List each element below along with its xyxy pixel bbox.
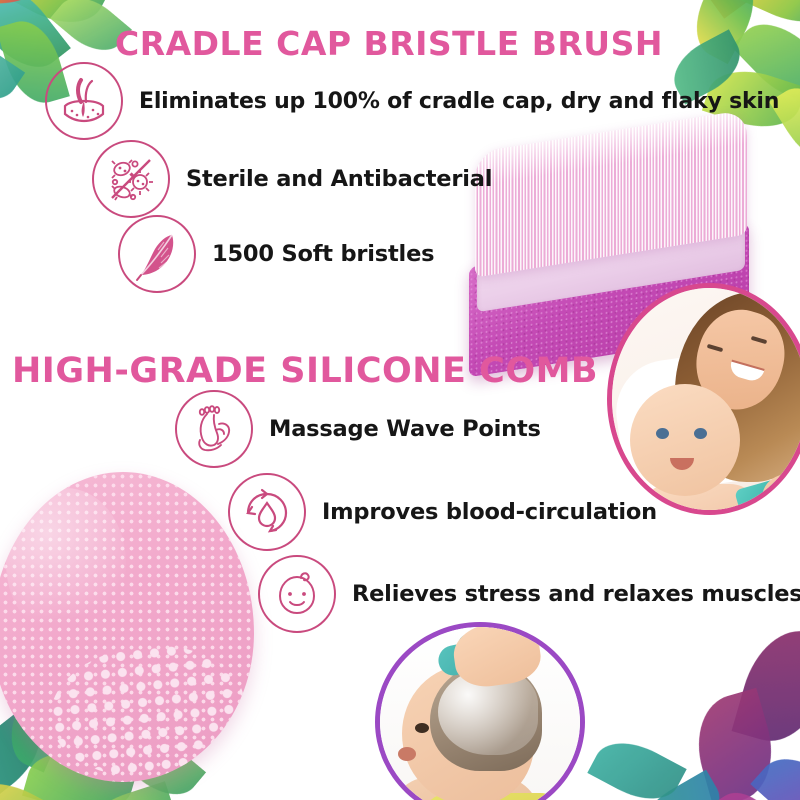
section-heading-silicone-comb: HIGH-GRADE SILICONE COMB: [12, 351, 598, 391]
feature-row-massage-points: Massage Wave Points: [175, 390, 541, 468]
antibacterial-icon: [92, 140, 170, 218]
feature-row-antibacterial: Sterile and Antibacterial: [92, 140, 492, 218]
blood-circulation-icon: [228, 473, 306, 551]
foot-massage-icon: [175, 390, 253, 468]
hair-follicle-icon: [45, 62, 123, 140]
feature-row-soft-bristles: 1500 Soft bristles: [118, 215, 434, 293]
feature-label: Relieves stress and relaxes muscles: [352, 581, 800, 607]
feature-label: Eliminates up 100% of cradle cap, dry an…: [139, 89, 779, 114]
pad-highlight: [6, 488, 126, 638]
product-infographic: CRADLE CAP BRISTLE BRUSH HIGH-GRADE SILI…: [0, 0, 800, 800]
baby-eye: [415, 723, 429, 733]
feature-row-relieves-stress: Relieves stress and relaxes muscles: [258, 555, 800, 633]
baby-eye-right: [694, 428, 707, 439]
feature-label: Improves blood-circulation: [322, 499, 657, 525]
baby-shampoo-photo: [375, 622, 585, 800]
feature-label: Sterile and Antibacterial: [186, 166, 492, 192]
feature-row-cradle-cap: Eliminates up 100% of cradle cap, dry an…: [45, 62, 779, 140]
baby-eye-left: [656, 428, 669, 439]
feature-label: Massage Wave Points: [269, 416, 541, 442]
silicone-pad-photo: [0, 472, 254, 782]
section-heading-bristle-brush: CRADLE CAP BRISTLE BRUSH: [115, 24, 663, 63]
feature-row-blood-circulation: Improves blood-circulation: [228, 473, 657, 551]
feather-icon: [118, 215, 196, 293]
tropical-leaves-bottom-right-decor: [580, 610, 800, 800]
feature-label: 1500 Soft bristles: [212, 241, 434, 267]
baby-face-icon: [258, 555, 336, 633]
baby-mouth: [398, 747, 416, 761]
